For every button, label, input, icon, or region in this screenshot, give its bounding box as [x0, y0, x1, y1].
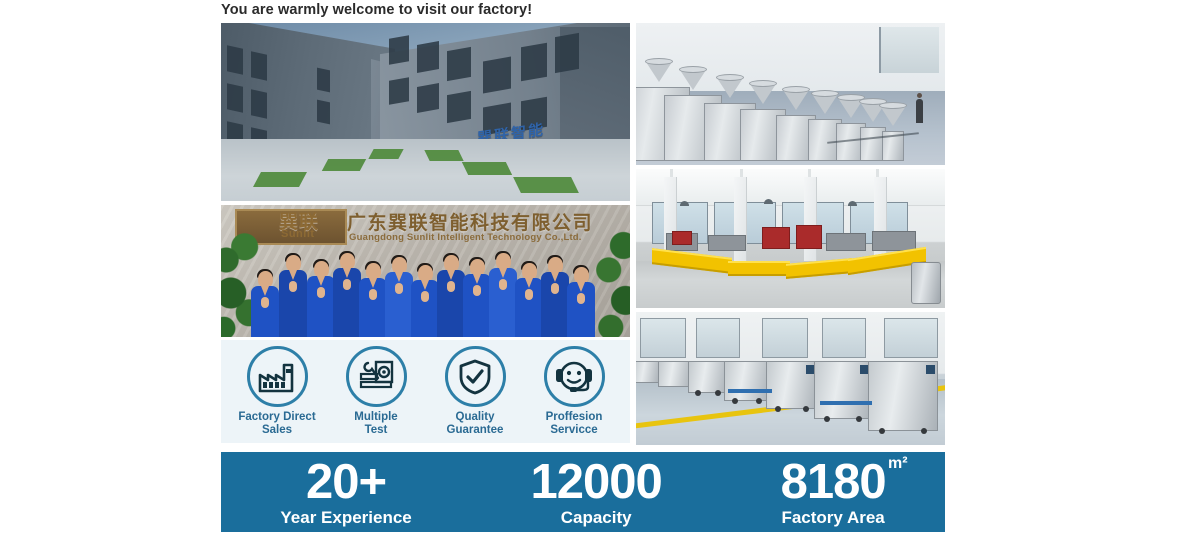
shield-check-icon [458, 359, 492, 395]
wrench-gear-test-icon [358, 360, 394, 394]
window [389, 77, 409, 105]
ceiling-lamp [764, 199, 773, 204]
feature-label-line1: Proffesion [546, 411, 603, 423]
line-machine [868, 361, 938, 431]
workshop-machine [708, 235, 746, 251]
window [640, 318, 686, 358]
workshop-machine-red [796, 225, 822, 249]
workshop-panorama-photo [636, 169, 945, 308]
left-column: 巽联智能 巽联 Sunlit 广东巽联智能科技有限公司 Guangdong Su… [221, 23, 630, 443]
lawn-patch [368, 149, 403, 159]
stats-banner: 20+ Year Experience 12000 Capacity 8180m… [221, 452, 945, 532]
window [822, 318, 866, 358]
feature-highlights-strip: Factory Direct Sales [221, 340, 630, 443]
stat-value: 20+ [306, 455, 386, 509]
window [555, 33, 579, 73]
feature-label-line1: Quality [456, 411, 495, 423]
factory-icon [258, 361, 296, 393]
lawn-patch [513, 177, 579, 193]
lawn-patch [322, 159, 366, 171]
window [696, 318, 740, 358]
feature-label-line1: Multiple [354, 411, 397, 423]
feature-professional-service: Proffesion Servicce [526, 346, 622, 437]
right-column [636, 23, 945, 445]
icon-ring [346, 346, 407, 407]
stat-year-experience: 20+ Year Experience [276, 458, 415, 527]
window [251, 89, 267, 118]
lawn-patch [253, 172, 307, 187]
window [417, 83, 439, 113]
window [417, 41, 439, 73]
page-title: You are warmly welcome to visit our fact… [221, 2, 532, 18]
feature-label-line1: Factory Direct [238, 411, 315, 423]
line-machine [636, 361, 660, 383]
company-name-en: Guangdong Sunlit Intelligent Technology … [349, 232, 582, 243]
stat-capacity: 12000 Capacity [527, 458, 666, 527]
steel-drum [911, 262, 941, 304]
icon-ring [544, 346, 605, 407]
production-line-photo [636, 312, 945, 445]
feature-label: Factory Direct Sales [229, 411, 325, 437]
feature-label-line2: Servicce [550, 424, 597, 436]
window [227, 83, 243, 112]
worker-figure [916, 99, 923, 123]
ceiling-lamp [848, 201, 857, 206]
feature-multiple-test: Multiple Test [328, 346, 424, 437]
machinery-production-hall-photo [636, 23, 945, 165]
feature-label: Quality Guarantee [427, 411, 523, 437]
headset-support-icon [555, 360, 593, 394]
window [483, 57, 511, 94]
factory-building-exterior-photo: 巽联智能 [221, 23, 630, 201]
window [884, 318, 938, 358]
potted-plant-right [594, 215, 630, 337]
window [251, 51, 267, 80]
stat-label: Year Experience [280, 508, 411, 527]
stat-number: 12000 [531, 458, 662, 507]
conveyor-belt [728, 389, 772, 393]
workshop-machine [826, 233, 866, 251]
feature-quality-guarantee: Quality Guarantee [427, 346, 523, 437]
workshop-machine-red [672, 231, 692, 245]
stat-number: 8180m² [781, 458, 886, 507]
feature-label: Proffesion Servicce [526, 411, 622, 437]
line-machine [658, 361, 692, 387]
photo-grid: 巽联智能 巽联 Sunlit 广东巽联智能科技有限公司 Guangdong Su… [221, 23, 945, 528]
feature-factory-direct-sales: Factory Direct Sales [229, 346, 325, 437]
factory-intro-page: You are warmly welcome to visit our fact… [0, 0, 1200, 536]
window [227, 45, 243, 74]
hall-window [879, 27, 939, 73]
icon-ring [247, 346, 308, 407]
ceiling-lamp [680, 201, 689, 206]
window [317, 100, 330, 125]
window [317, 68, 330, 93]
stat-unit-superscript: m² [888, 456, 908, 472]
stat-number: 20+ [306, 458, 386, 507]
lawn-patch [424, 150, 463, 161]
line-machine [766, 361, 818, 409]
stat-value: 8180 [781, 455, 886, 509]
company-name-cn: 广东巽联智能科技有限公司 [347, 208, 593, 235]
workshop-machine [872, 231, 916, 251]
window [447, 47, 471, 81]
icon-ring [445, 346, 506, 407]
stat-label: Capacity [531, 508, 662, 527]
feature-label-line2: Guarantee [447, 424, 504, 436]
stat-factory-area: 8180m² Factory Area [777, 458, 890, 527]
workshop-machine-red [762, 227, 790, 249]
line-machine [724, 361, 770, 401]
window [389, 35, 409, 65]
window [762, 318, 808, 358]
lawn-patch [462, 162, 512, 175]
window [521, 43, 547, 82]
company-team-photo: 巽联 Sunlit 广东巽联智能科技有限公司 Guangdong Sunlit … [221, 205, 630, 337]
conveyor-belt [820, 401, 872, 405]
safety-barrier [728, 261, 790, 276]
feature-label-line2: Sales [262, 424, 292, 436]
feature-label: Multiple Test [328, 411, 424, 437]
brand-logo-en: Sunlit [281, 228, 315, 240]
stat-label: Factory Area [781, 508, 886, 527]
window [447, 91, 471, 123]
feature-label-line2: Test [365, 424, 388, 436]
line-machine [814, 361, 872, 419]
line-machine [688, 361, 728, 393]
support-column [804, 177, 817, 263]
stat-value: 12000 [531, 455, 662, 509]
